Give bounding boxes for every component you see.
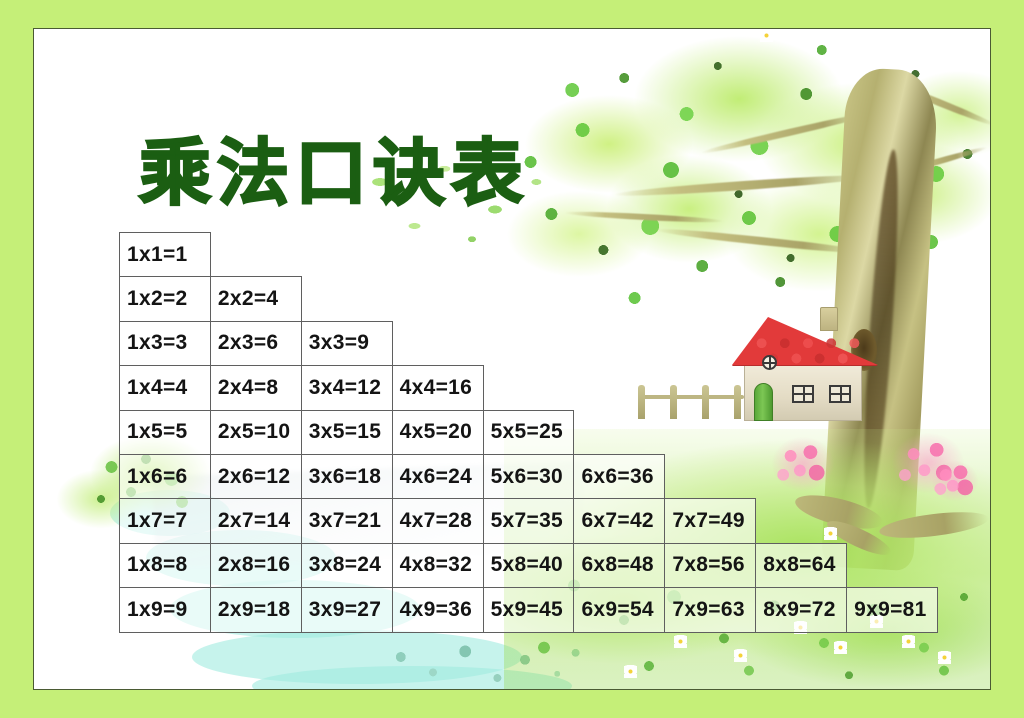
table-body: 1x1=11x2=22x2=41x3=32x3=63x3=91x4=42x4=8… <box>120 233 938 633</box>
table-cell-empty <box>301 233 392 277</box>
tree-branch <box>701 109 878 156</box>
table-cell-empty <box>574 233 665 277</box>
table-cell: 1x4=4 <box>120 366 211 410</box>
tree-branch <box>564 210 724 224</box>
table-cell: 4x7=28 <box>392 499 483 543</box>
table-cell: 4x9=36 <box>392 588 483 632</box>
table-cell-empty <box>574 321 665 365</box>
table-cell: 3x8=24 <box>301 543 392 587</box>
table-row: 1x3=32x3=63x3=9 <box>120 321 938 365</box>
table-cell: 1x9=9 <box>120 588 211 632</box>
page-title: 乘法口诀表 <box>139 114 529 219</box>
table-cell-empty <box>483 321 574 365</box>
table-cell-empty <box>665 321 756 365</box>
table-cell-empty <box>756 454 847 498</box>
multiplication-table: 1x1=11x2=22x2=41x3=32x3=63x3=91x4=42x4=8… <box>119 232 938 633</box>
table-cell: 6x9=54 <box>574 588 665 632</box>
table-cell: 3x5=15 <box>301 410 392 454</box>
table-cell-empty <box>483 233 574 277</box>
table-row: 1x4=42x4=83x4=124x4=16 <box>120 366 938 410</box>
table-cell: 2x2=4 <box>210 277 301 321</box>
table-cell: 1x6=6 <box>120 454 211 498</box>
table-cell-empty <box>665 454 756 498</box>
daisy-flower-icon <box>760 29 773 42</box>
table-cell-empty <box>574 277 665 321</box>
table-cell-empty <box>483 277 574 321</box>
tree-branch <box>882 77 991 128</box>
table-cell-empty <box>756 499 847 543</box>
table-cell: 5x5=25 <box>483 410 574 454</box>
table-cell: 1x1=1 <box>120 233 211 277</box>
table-row: 1x1=1 <box>120 233 938 277</box>
table-cell-empty <box>756 410 847 454</box>
table-cell-empty <box>847 366 938 410</box>
table-cell-empty <box>574 410 665 454</box>
table-cell-empty <box>392 321 483 365</box>
water-wave <box>252 666 572 690</box>
table-cell-empty <box>392 233 483 277</box>
table-cell-empty <box>847 410 938 454</box>
table-cell: 5x7=35 <box>483 499 574 543</box>
table-cell: 4x8=32 <box>392 543 483 587</box>
table-cell: 8x8=64 <box>756 543 847 587</box>
poster-frame: 乘法口诀表 1x1=11x2=22x2=41x3=32x3=63x3=91x4=… <box>0 0 1024 718</box>
table-cell: 4x4=16 <box>392 366 483 410</box>
table-cell: 2x8=16 <box>210 543 301 587</box>
daisy-flower-icon <box>674 635 687 648</box>
table-cell-empty <box>392 277 483 321</box>
water-wave <box>192 630 522 684</box>
table-cell: 4x6=24 <box>392 454 483 498</box>
water-bubbles <box>364 629 594 690</box>
table-cell-empty <box>665 366 756 410</box>
pink-blossom-bush <box>932 461 978 501</box>
table-cell-empty <box>847 321 938 365</box>
table-cell-empty <box>756 233 847 277</box>
table-cell: 5x8=40 <box>483 543 574 587</box>
table-cell: 3x6=18 <box>301 454 392 498</box>
table-cell: 9x9=81 <box>847 588 938 632</box>
table-row: 1x6=62x6=123x6=184x6=245x6=306x6=36 <box>120 454 938 498</box>
table-cell-empty <box>301 277 392 321</box>
table-cell: 4x5=20 <box>392 410 483 454</box>
poster-canvas: 乘法口诀表 1x1=11x2=22x2=41x3=32x3=63x3=91x4=… <box>33 28 991 690</box>
table-cell: 3x7=21 <box>301 499 392 543</box>
table-cell-empty <box>210 233 301 277</box>
table-cell: 2x9=18 <box>210 588 301 632</box>
table-cell-empty <box>756 277 847 321</box>
table-cell: 1x5=5 <box>120 410 211 454</box>
table-cell: 1x2=2 <box>120 277 211 321</box>
table-row: 1x9=92x9=183x9=274x9=365x9=456x9=547x9=6… <box>120 588 938 632</box>
table-cell-empty <box>847 277 938 321</box>
table-cell: 5x9=45 <box>483 588 574 632</box>
table-cell-empty <box>574 366 665 410</box>
daisy-flower-icon <box>734 649 747 662</box>
table-cell: 6x7=42 <box>574 499 665 543</box>
table-cell-empty <box>847 454 938 498</box>
table-cell: 5x6=30 <box>483 454 574 498</box>
tree-branch <box>614 172 874 199</box>
table-cell: 3x9=27 <box>301 588 392 632</box>
table-cell-empty <box>847 499 938 543</box>
table-cell: 2x7=14 <box>210 499 301 543</box>
table-cell: 2x3=6 <box>210 321 301 365</box>
table-cell: 1x8=8 <box>120 543 211 587</box>
table-cell: 2x4=8 <box>210 366 301 410</box>
table-row: 1x5=52x5=103x5=154x5=205x5=25 <box>120 410 938 454</box>
table-cell: 2x6=12 <box>210 454 301 498</box>
table-cell: 1x7=7 <box>120 499 211 543</box>
table-cell-empty <box>847 233 938 277</box>
table-cell-empty <box>665 233 756 277</box>
table-cell-empty <box>665 277 756 321</box>
table-cell-empty <box>756 321 847 365</box>
table-cell: 6x6=36 <box>574 454 665 498</box>
table-cell: 7x9=63 <box>665 588 756 632</box>
daisy-flower-icon <box>624 665 637 678</box>
table-cell-empty <box>483 366 574 410</box>
table-cell: 6x8=48 <box>574 543 665 587</box>
table-cell: 1x3=3 <box>120 321 211 365</box>
daisy-flower-icon <box>834 641 847 654</box>
table-row: 1x8=82x8=163x8=244x8=325x8=406x8=487x8=5… <box>120 543 938 587</box>
table-cell-empty <box>847 543 938 587</box>
table-cell: 2x5=10 <box>210 410 301 454</box>
table-cell: 3x4=12 <box>301 366 392 410</box>
table-row: 1x7=72x7=143x7=214x7=285x7=356x7=427x7=4… <box>120 499 938 543</box>
daisy-flower-icon <box>938 651 951 664</box>
tree-branch <box>885 145 988 180</box>
table-cell: 7x7=49 <box>665 499 756 543</box>
table-cell: 7x8=56 <box>665 543 756 587</box>
table-cell: 8x9=72 <box>756 588 847 632</box>
table-cell-empty <box>665 410 756 454</box>
table-cell-empty <box>756 366 847 410</box>
daisy-flower-icon <box>902 635 915 648</box>
table-cell: 3x3=9 <box>301 321 392 365</box>
table-row: 1x2=22x2=4 <box>120 277 938 321</box>
